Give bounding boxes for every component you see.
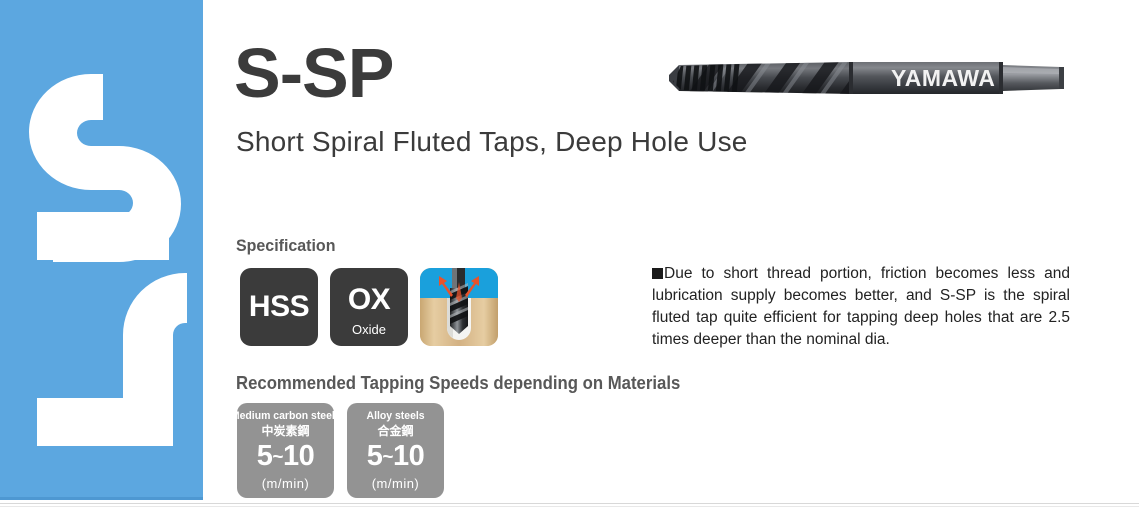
speed-value-high: 10 — [393, 440, 424, 472]
content-column: S-SP Short Spiral Fluted Taps, Deep Hole… — [203, 0, 1139, 500]
speed-card-alloy-steels: Alloy steels 合金鋼 5~10 (m/min) — [347, 403, 444, 498]
page-bottom-divider-secondary — [0, 506, 1139, 507]
speed-value-separator: ~ — [272, 447, 283, 468]
speed-value: 5~10 — [367, 442, 425, 471]
tapping-speeds-card-group: Medium carbon steels 中炭素鋼 5~10 (m/min) A… — [237, 403, 444, 498]
product-datasheet-page: S-SP Short Spiral Fluted Taps, Deep Hole… — [0, 0, 1139, 511]
speed-value-low: 5 — [367, 440, 383, 472]
brand-text: YAMAWA — [891, 65, 995, 91]
jis-standard-logo — [0, 0, 203, 500]
speed-unit: (m/min) — [372, 477, 420, 490]
ox-badge-label: OX — [348, 285, 390, 315]
material-name-en: Medium carbon steels — [231, 410, 341, 423]
speed-unit: (m/min) — [262, 477, 310, 490]
jis-standard-panel — [0, 0, 203, 500]
ox-badge-sublabel: Oxide — [352, 323, 386, 336]
feature-description: Due to short thread portion, friction be… — [652, 263, 1070, 351]
material-name-en: Alloy steels — [366, 410, 424, 423]
speed-value: 5~10 — [257, 442, 315, 471]
material-name-jp: 中炭素鋼 — [261, 424, 309, 438]
page-title: S-SP — [234, 38, 393, 108]
hss-material-badge: HSS — [240, 268, 318, 346]
page-bottom-divider — [0, 503, 1139, 504]
hss-badge-label: HSS — [249, 292, 309, 322]
speed-value-low: 5 — [257, 440, 273, 472]
spiral-fluted-tap-photo: YAMAWA — [663, 38, 1067, 118]
tapping-speeds-heading: Recommended Tapping Speeds depending on … — [236, 374, 680, 392]
material-name-jp: 合金鋼 — [377, 424, 413, 438]
specification-heading: Specification — [236, 237, 335, 254]
square-bullet-icon — [652, 268, 663, 279]
speed-card-medium-carbon-steels: Medium carbon steels 中炭素鋼 5~10 (m/min) — [237, 403, 334, 498]
page-subtitle: Short Spiral Fluted Taps, Deep Hole Use — [236, 128, 748, 156]
panel-bottom-edge — [0, 497, 203, 500]
speed-value-high: 10 — [283, 440, 314, 472]
ox-oxide-surface-badge: OX Oxide — [330, 268, 408, 346]
feature-description-text: Due to short thread portion, friction be… — [652, 265, 1070, 348]
blind-hole-chip-evacuation-icon — [420, 268, 498, 346]
specification-badge-group: HSS OX Oxide — [240, 268, 498, 346]
speed-value-separator: ~ — [382, 447, 393, 468]
